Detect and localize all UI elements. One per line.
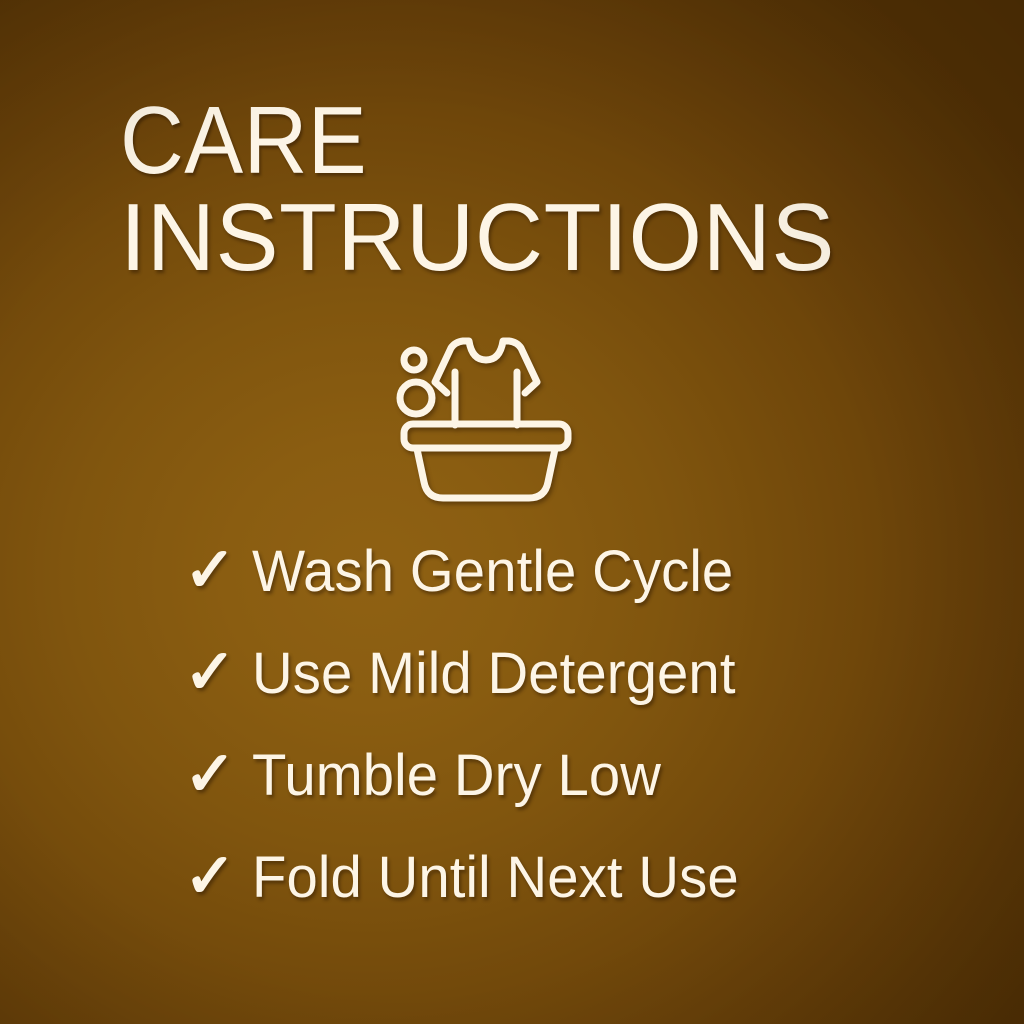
check-icon: ✓ (184, 642, 252, 704)
basin-rim-icon (404, 424, 568, 448)
checklist-item-label: Use Mild Detergent (252, 645, 962, 703)
title-line-instructions: INSTRUCTIONS (120, 193, 928, 282)
checklist-item-tumble-dry-low: ✓ Tumble Dry Low (184, 744, 984, 846)
checklist-item-label: Wash Gentle Cycle (252, 543, 962, 601)
checklist-item-label: Fold Until Next Use (252, 849, 962, 907)
basin-tub-icon (417, 449, 555, 498)
tshirt-icon (435, 341, 537, 425)
check-icon: ✓ (184, 846, 252, 908)
care-instructions-poster: CARE INSTRUCTIONS ✓ Wash Gentle Cycle ✓ … (0, 0, 1024, 1024)
bubble-large-icon (400, 382, 432, 414)
checklist-item-wash-gentle-cycle: ✓ Wash Gentle Cycle (184, 540, 984, 642)
page-title: CARE INSTRUCTIONS (120, 96, 940, 283)
bubble-small-icon (404, 350, 424, 370)
check-icon: ✓ (184, 744, 252, 806)
tshirt-in-wash-basin-icon (391, 330, 581, 506)
care-checklist: ✓ Wash Gentle Cycle ✓ Use Mild Detergent… (184, 540, 984, 948)
checklist-item-use-mild-detergent: ✓ Use Mild Detergent (184, 642, 984, 744)
check-icon: ✓ (184, 540, 252, 602)
checklist-item-fold-until-next-use: ✓ Fold Until Next Use (184, 846, 984, 948)
checklist-item-label: Tumble Dry Low (252, 747, 962, 805)
title-line-care: CARE (120, 96, 874, 185)
